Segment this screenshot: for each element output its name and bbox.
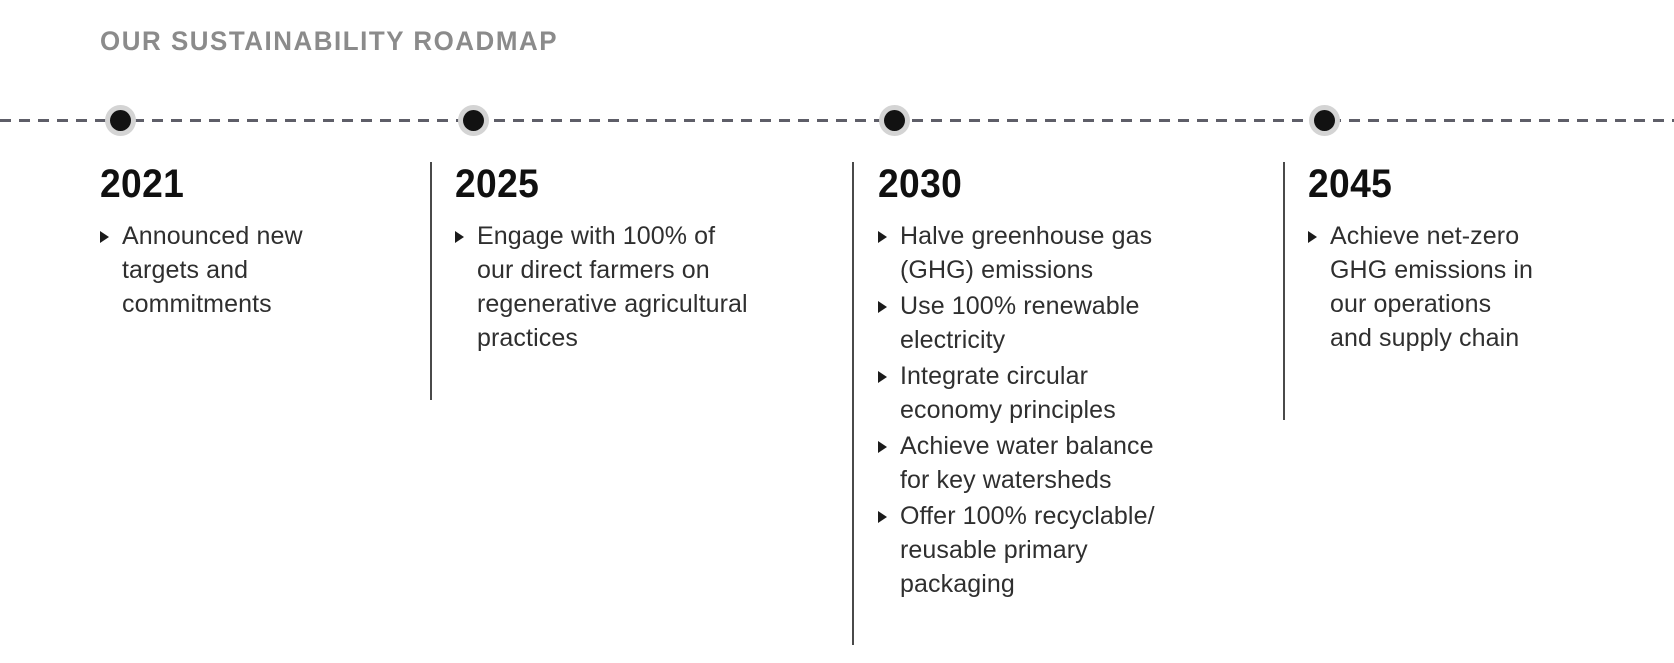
milestone-column-2021: 2021Announced new targets and commitment… [100, 162, 350, 323]
milestone-item-text: Offer 100% recyclable/ reusable primary … [900, 502, 1155, 598]
list-item: Achieve water balance for key watersheds [878, 429, 1188, 497]
list-item: Achieve net-zero GHG emissions in our op… [1308, 219, 1538, 355]
page-title: OUR SUSTAINABILITY ROADMAP [100, 26, 558, 57]
milestone-item-text: Announced new targets and commitments [122, 222, 303, 318]
milestone-year-label: 2021 [100, 162, 333, 206]
milestone-bullet-list: Announced new targets and commitments [100, 219, 350, 321]
list-item: Halve greenhouse gas (GHG) emissions [878, 219, 1188, 287]
milestone-item-text: Engage with 100% of our direct farmers o… [477, 222, 748, 352]
triangle-right-icon [878, 301, 887, 313]
column-divider-2045 [1283, 162, 1285, 420]
milestone-item-text: Integrate circular economy principles [900, 362, 1116, 424]
list-item: Announced new targets and commitments [100, 219, 350, 321]
list-item: Offer 100% recyclable/ reusable primary … [878, 499, 1188, 601]
timeline-node-2030[interactable] [879, 105, 910, 136]
milestone-column-2025: 2025Engage with 100% of our direct farme… [455, 162, 755, 357]
milestone-item-text: Achieve net-zero GHG emissions in our op… [1330, 222, 1533, 352]
triangle-right-icon [878, 231, 887, 243]
milestone-year-label: 2030 [878, 162, 1166, 206]
milestone-year-label: 2025 [455, 162, 734, 206]
list-item: Engage with 100% of our direct farmers o… [455, 219, 755, 355]
milestone-item-text: Achieve water balance for key watersheds [900, 432, 1154, 494]
milestone-year-label: 2045 [1308, 162, 1522, 206]
triangle-right-icon [878, 371, 887, 383]
milestone-column-2030: 2030Halve greenhouse gas (GHG) emissions… [878, 162, 1188, 603]
timeline-node-2045[interactable] [1309, 105, 1340, 136]
milestone-bullet-list: Achieve net-zero GHG emissions in our op… [1308, 219, 1538, 355]
milestone-column-2045: 2045Achieve net-zero GHG emissions in ou… [1308, 162, 1538, 357]
column-divider-2025 [430, 162, 432, 400]
milestone-bullet-list: Halve greenhouse gas (GHG) emissionsUse … [878, 219, 1188, 601]
triangle-right-icon [1308, 231, 1317, 243]
milestone-item-text: Halve greenhouse gas (GHG) emissions [900, 222, 1152, 284]
timeline-node-2025[interactable] [458, 105, 489, 136]
list-item: Integrate circular economy principles [878, 359, 1188, 427]
triangle-right-icon [878, 441, 887, 453]
timeline-axis [0, 119, 1674, 122]
timeline-node-2021[interactable] [105, 105, 136, 136]
triangle-right-icon [455, 231, 464, 243]
milestone-bullet-list: Engage with 100% of our direct farmers o… [455, 219, 755, 355]
milestone-item-text: Use 100% renewable electricity [900, 292, 1139, 354]
triangle-right-icon [100, 231, 109, 243]
triangle-right-icon [878, 511, 887, 523]
column-divider-2030 [852, 162, 854, 645]
sustainability-roadmap-infographic: OUR SUSTAINABILITY ROADMAP 2021Announced… [0, 0, 1674, 663]
list-item: Use 100% renewable electricity [878, 289, 1188, 357]
